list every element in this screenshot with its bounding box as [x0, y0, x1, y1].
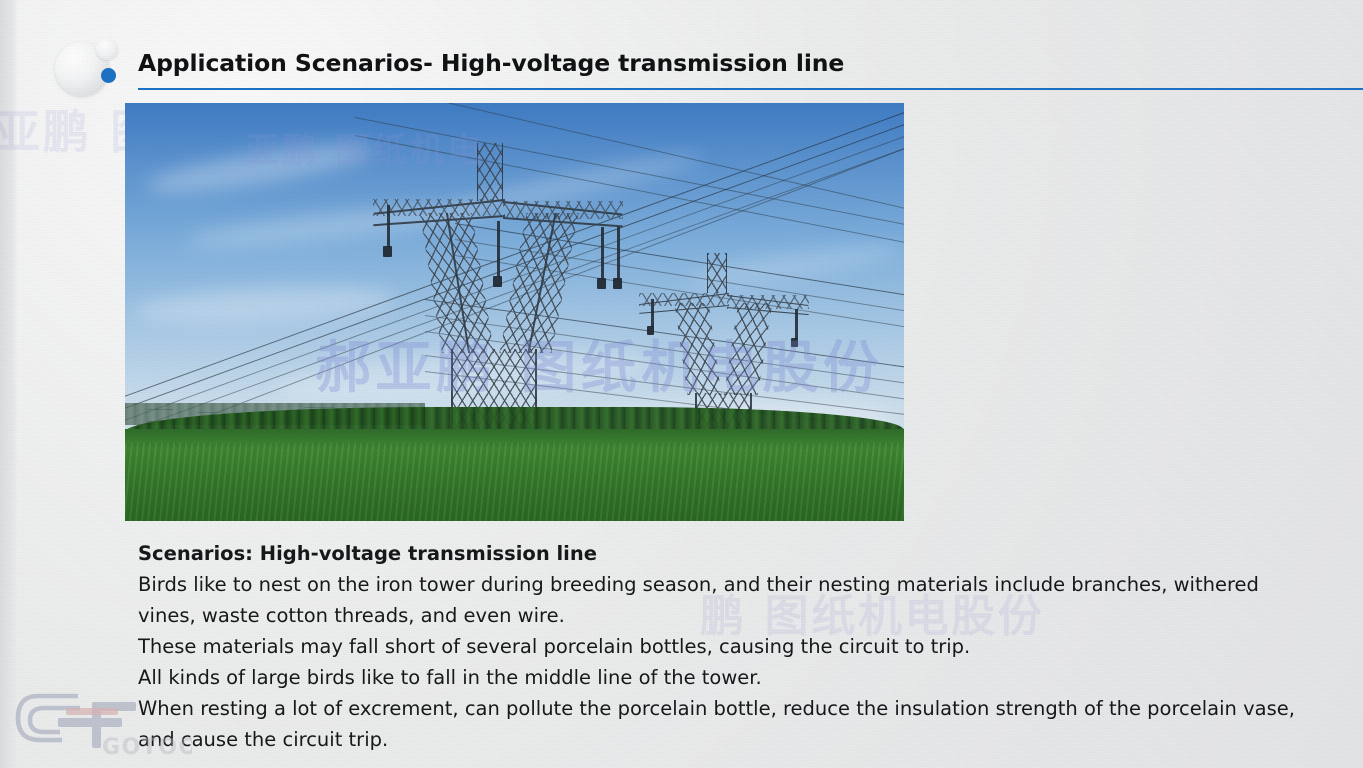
green-field [125, 429, 904, 521]
decorative-blue-dot-icon [101, 68, 116, 83]
scenario-paragraph-4: When resting a lot of excrement, can pol… [138, 693, 1318, 755]
decorative-large-circle [55, 42, 109, 96]
field-crop-rows [125, 443, 904, 521]
gf-monogram-accent [66, 708, 118, 715]
gf-monogram-icon [18, 696, 80, 740]
title-underline-rule [138, 88, 1363, 90]
scenario-lead-line: Scenarios: High-voltage transmission lin… [138, 538, 1318, 569]
scenario-paragraph-2: These materials may fall short of severa… [138, 631, 1318, 662]
page-title: Application Scenarios- High-voltage tran… [138, 50, 1363, 77]
slide-left-edge-band [0, 0, 18, 768]
decorative-small-circle [96, 38, 118, 60]
page-title-text: Application Scenarios- High-voltage tran… [138, 50, 1363, 77]
gf-monogram-bar [58, 702, 136, 748]
scenario-description: Scenarios: High-voltage transmission lin… [138, 538, 1318, 755]
scenario-paragraph-3: All kinds of large birds like to fall in… [138, 662, 1318, 693]
scenario-paragraph-1: Birds like to nest on the iron tower dur… [138, 569, 1318, 631]
scenario-photo: 亚鹏 图纸机电 郝亚鹏 图纸机电股份 [125, 103, 904, 521]
slide-canvas: 亚鹏 图纸 郝亚鹏 图纸机电股份 鹏 图纸机电股份 Application Sc… [0, 0, 1363, 768]
